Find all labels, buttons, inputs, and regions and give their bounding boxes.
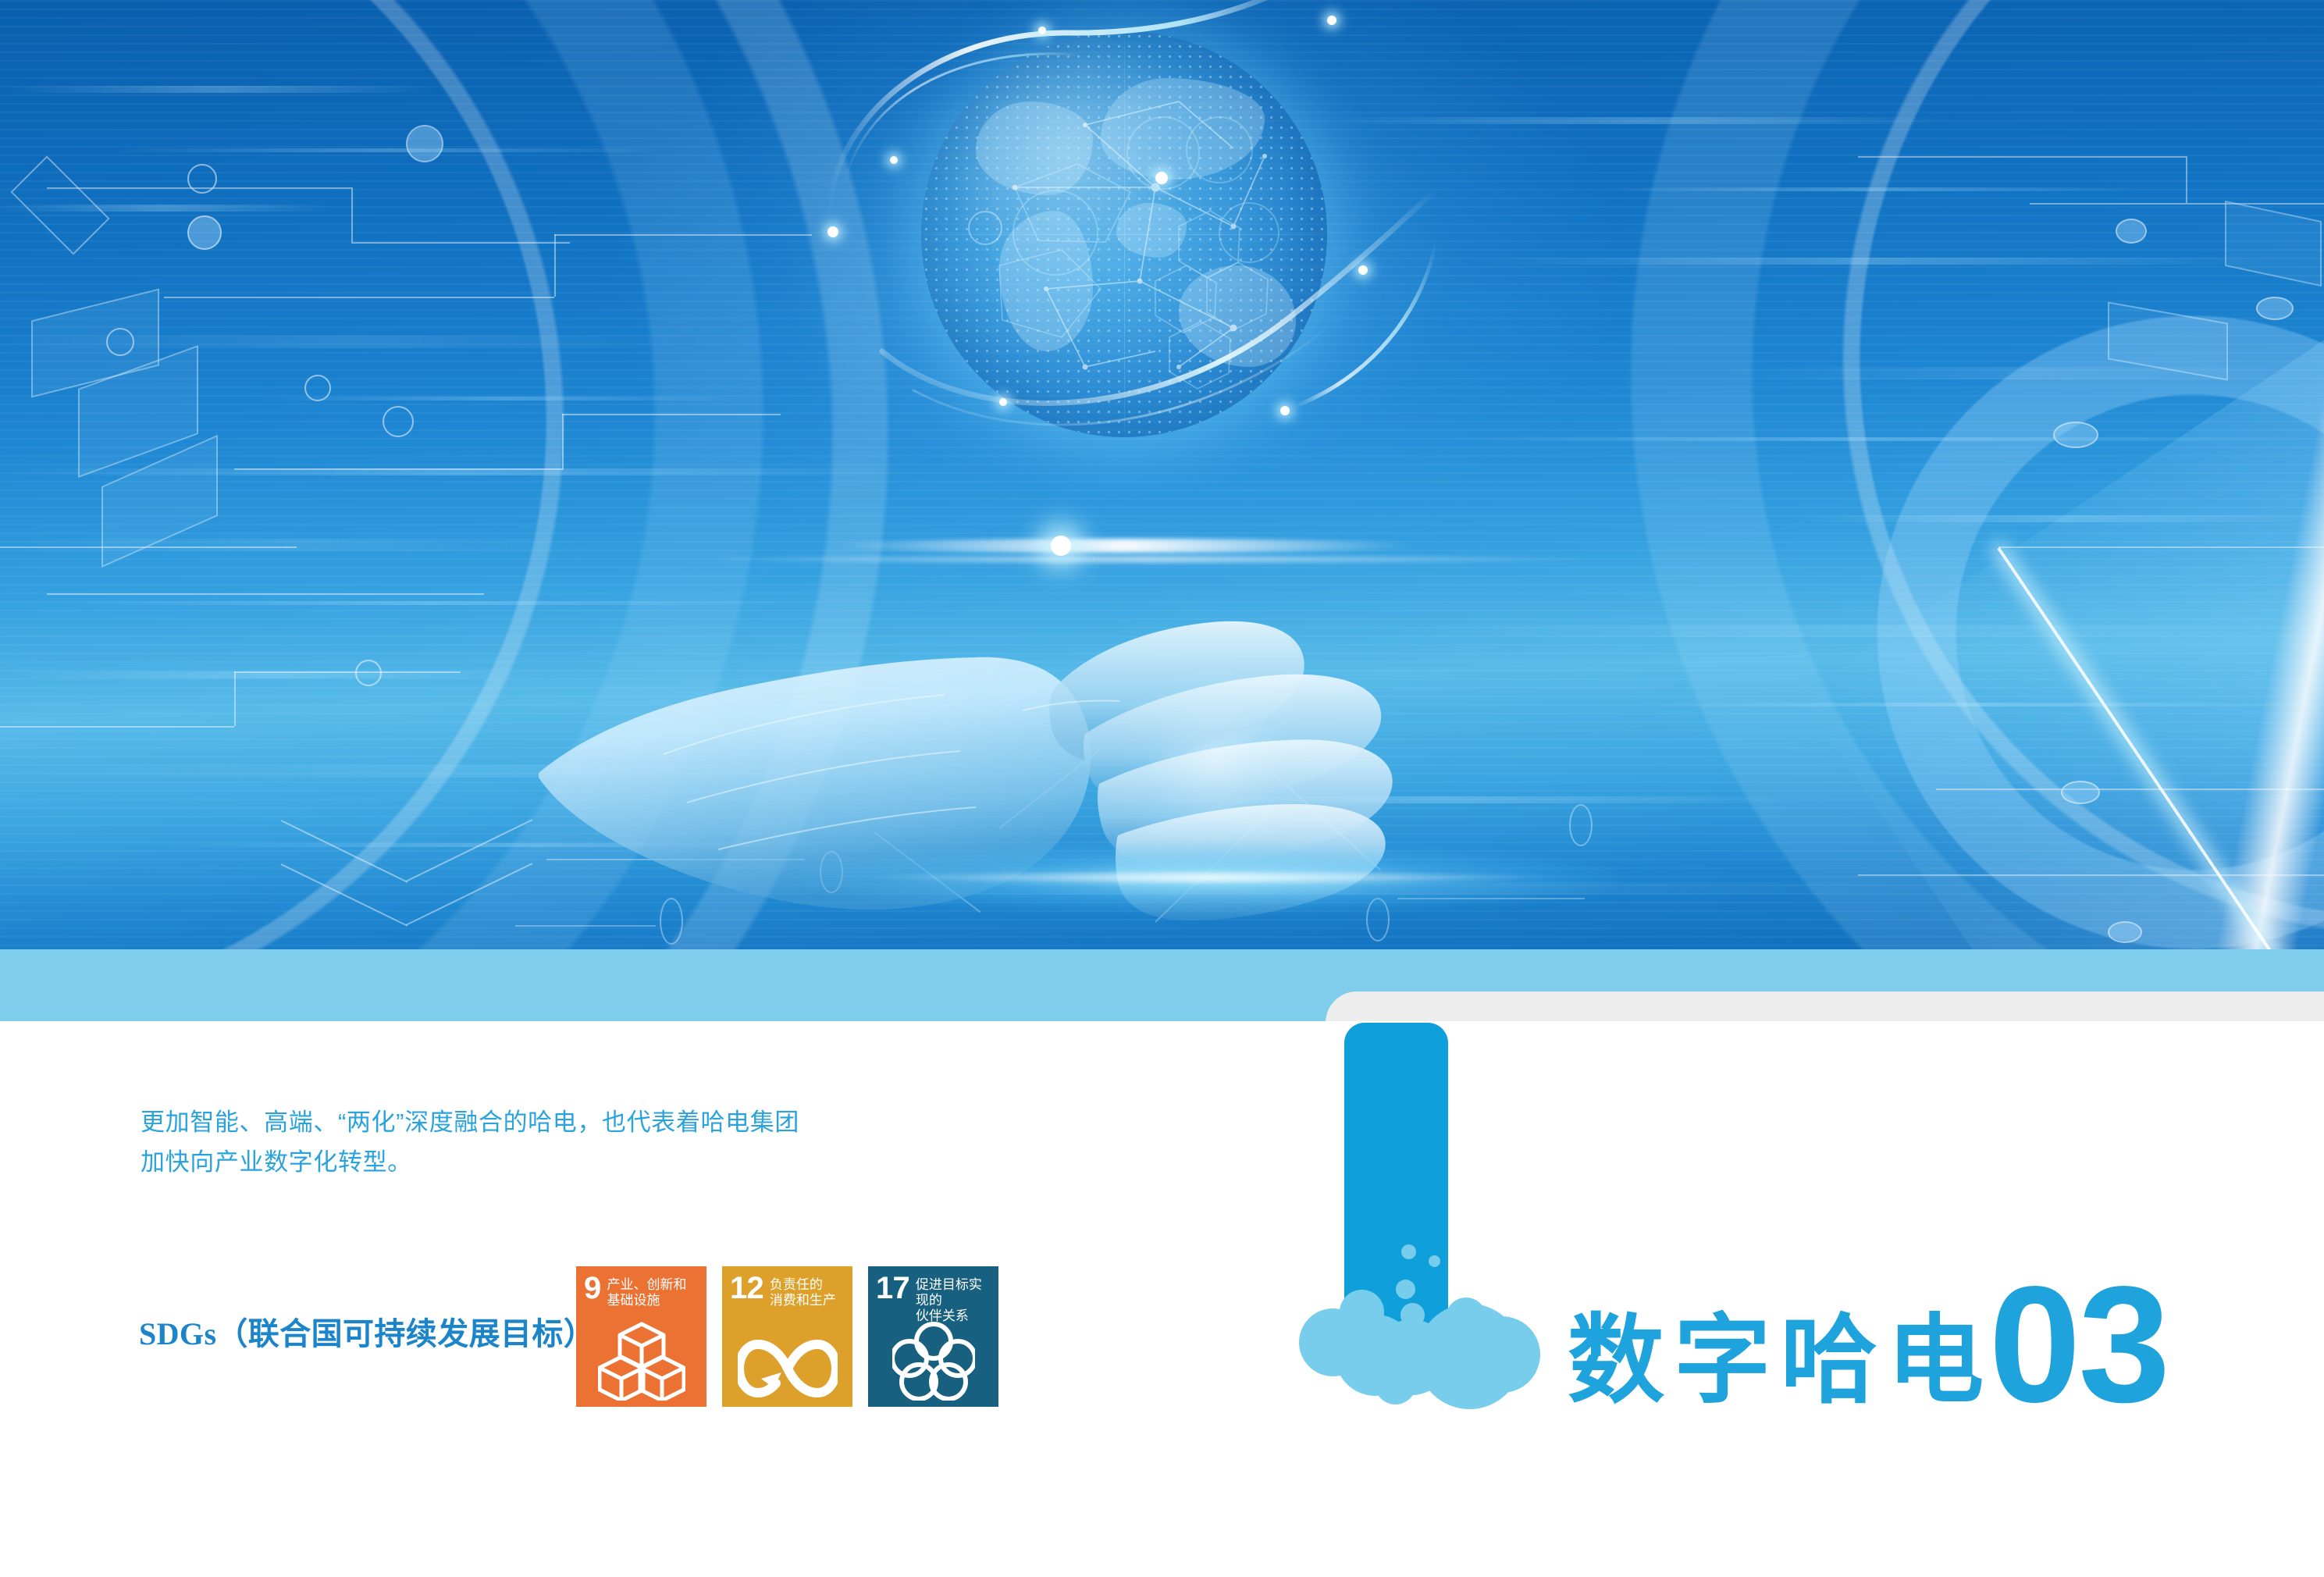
- infinity-loop-icon: [722, 1337, 852, 1401]
- hero-horizon-flare: [827, 539, 1421, 553]
- globe-orbit-ribbons: [796, 0, 1468, 531]
- page-root: 更加智能、高端、“两化”深度融合的哈电，也代表着哈电集团 加快向产业数字化转型。…: [0, 0, 2324, 1577]
- sdg-goal-17-text: 促进目标实现的 伙伴关系: [916, 1274, 992, 1324]
- hero-banner-image: [0, 0, 2324, 949]
- sdg-goal-17-number: 17: [876, 1274, 909, 1302]
- hand-base-flare: [859, 873, 1561, 882]
- sdg-goal-12-header: 12 负责任的 消费和生产: [730, 1274, 846, 1308]
- sdg-goal-9-header: 9 产业、创新和 基础设施: [584, 1274, 700, 1308]
- sdgs-goal-list: 9 产业、创新和 基础设施 12: [576, 1266, 998, 1407]
- sdg-goal-12-text: 负责任的 消费和生产: [770, 1274, 836, 1308]
- sdg-goal-9-tile[interactable]: 9 产业、创新和 基础设施: [576, 1266, 706, 1407]
- five-rings-icon: [868, 1321, 998, 1401]
- hero-horizon-flare-wide: [687, 556, 1608, 563]
- intro-paragraph: 更加智能、高端、“两化”深度融合的哈电，也代表着哈电集团 加快向产业数字化转型。: [141, 1102, 968, 1182]
- sdg-goal-12-number: 12: [730, 1274, 763, 1302]
- sdg-goal-17-header: 17 促进目标实现的 伙伴关系: [876, 1274, 992, 1324]
- sdg-goal-9-number: 9: [584, 1274, 600, 1302]
- globe-hologram: [921, 31, 1327, 437]
- sdg-goal-12-tile[interactable]: 12 负责任的 消费和生产: [722, 1266, 852, 1407]
- sdg-goal-9-text: 产业、创新和 基础设施: [607, 1274, 686, 1308]
- chapter-number: 03: [1989, 1262, 2168, 1427]
- sdgs-label: SDGs（联合国可持续发展目标）: [139, 1308, 595, 1354]
- gray-bracket-inner-cut: [1326, 1021, 2324, 1226]
- hero-center-spark: [1051, 536, 1071, 556]
- chapter-title-text: 数字哈电: [1568, 1312, 1994, 1409]
- chapter-title-block: 数字哈电 03: [1568, 1254, 2168, 1419]
- sdg-goal-17-tile[interactable]: 17 促进目标实现的 伙伴关系: [868, 1266, 998, 1407]
- cubes-icon: [576, 1319, 706, 1401]
